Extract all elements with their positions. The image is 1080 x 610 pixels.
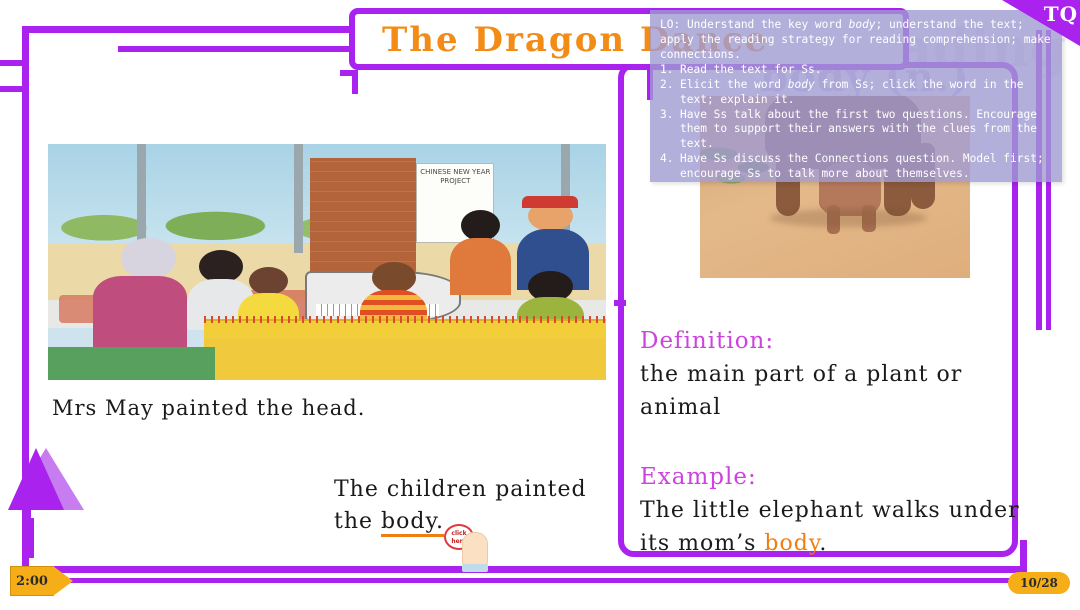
illustration-window-post <box>294 144 303 253</box>
illustration-table-front <box>204 338 606 380</box>
story-caption-1: Mrs May painted the head. <box>52 396 365 420</box>
example-label: Example: <box>640 464 757 490</box>
lo-heading: LO: Understand the key word body; unders… <box>660 18 1052 62</box>
frame-line-bottom-secondary <box>22 578 1027 583</box>
timer-arrow-icon <box>53 566 73 596</box>
frame-tick-left-lower <box>0 86 24 92</box>
lo-step-number: 1. <box>660 63 674 78</box>
photo-shadow <box>770 209 927 227</box>
hand-cuff <box>462 564 488 572</box>
illustration-person-head <box>249 267 288 295</box>
frame-line-top-inner <box>118 46 356 52</box>
lo-step-before: Elicit the word <box>680 78 788 91</box>
lo-step-number: 3. <box>660 108 674 123</box>
illustration-person-body <box>93 276 188 347</box>
lo-step-text: Read the text for Ss. <box>680 63 1052 78</box>
keyword-body-link[interactable]: body. <box>381 509 444 537</box>
example-suffix: . <box>819 531 827 556</box>
lo-steps-list: 1. Read the text for Ss. 2. Elicit the w… <box>660 63 1052 181</box>
decorative-triangle <box>8 448 84 510</box>
illustration-person-head <box>372 262 417 293</box>
illustration-red-cap <box>522 196 578 208</box>
caption-line2-prefix: the <box>334 509 381 534</box>
frame-title-drop-left <box>352 70 358 94</box>
example-prefix: The little elephant walks under its mom’… <box>640 498 1020 556</box>
story-illustration: CHINESE NEW YEAR PROJECT <box>48 144 606 380</box>
definition-text: the main part of a plant or animal <box>640 358 1020 424</box>
slide-canvas: Reading body (n.) The Dragon Dance CHINE… <box>0 0 1080 610</box>
illustration-person-head <box>461 210 500 241</box>
timer-value: 2:00 <box>10 566 54 596</box>
lo-step-keyword: body <box>788 78 815 91</box>
lo-step-item: 1. Read the text for Ss. <box>660 63 1052 78</box>
story-caption-2-line-1: The children painted <box>334 474 587 506</box>
lo-step-number: 2. <box>660 78 674 93</box>
frame-tick-left-upper <box>0 60 24 66</box>
illustration-confetti <box>204 316 606 323</box>
lesson-objective-overlay: LO: Understand the key word body; unders… <box>650 10 1062 182</box>
definition-label: Definition: <box>640 328 774 354</box>
frame-line-bottom <box>22 566 1027 573</box>
illustration-person-head <box>121 238 177 278</box>
illustration-person-body <box>450 238 511 295</box>
timer-widget[interactable]: 2:00 <box>10 566 76 596</box>
lo-step-item: 4. Have Ss discuss the Connections quest… <box>660 152 1052 182</box>
click-here-cursor[interactable]: click here <box>440 524 500 582</box>
lo-step-text: Elicit the word body from Ss; click the … <box>680 78 1052 108</box>
lo-step-number: 4. <box>660 152 674 167</box>
illustration-window-post <box>137 144 146 253</box>
illustration-bench <box>48 347 215 380</box>
example-text: The little elephant walks under its mom’… <box>640 494 1020 560</box>
lo-step-item: 3. Have Ss talk about the first two ques… <box>660 108 1052 152</box>
example-keyword: body <box>764 531 819 556</box>
lo-heading-keyword: body <box>849 18 876 31</box>
triangle-dark-half <box>8 448 64 510</box>
lo-step-text: Have Ss talk about the first two questio… <box>680 108 1052 152</box>
lo-step-text: Have Ss discuss the Connections question… <box>680 152 1052 182</box>
frame-line-top <box>22 26 352 33</box>
lo-step-item: 2. Elicit the word body from Ss; click t… <box>660 78 1052 108</box>
corner-badge-label: TQ <box>1044 2 1078 26</box>
frame-bar-under-triangle <box>25 518 34 558</box>
hand-pointer-icon <box>462 532 488 566</box>
page-indicator: 10/28 <box>1008 572 1070 594</box>
lo-heading-before: LO: Understand the key word <box>660 18 849 31</box>
